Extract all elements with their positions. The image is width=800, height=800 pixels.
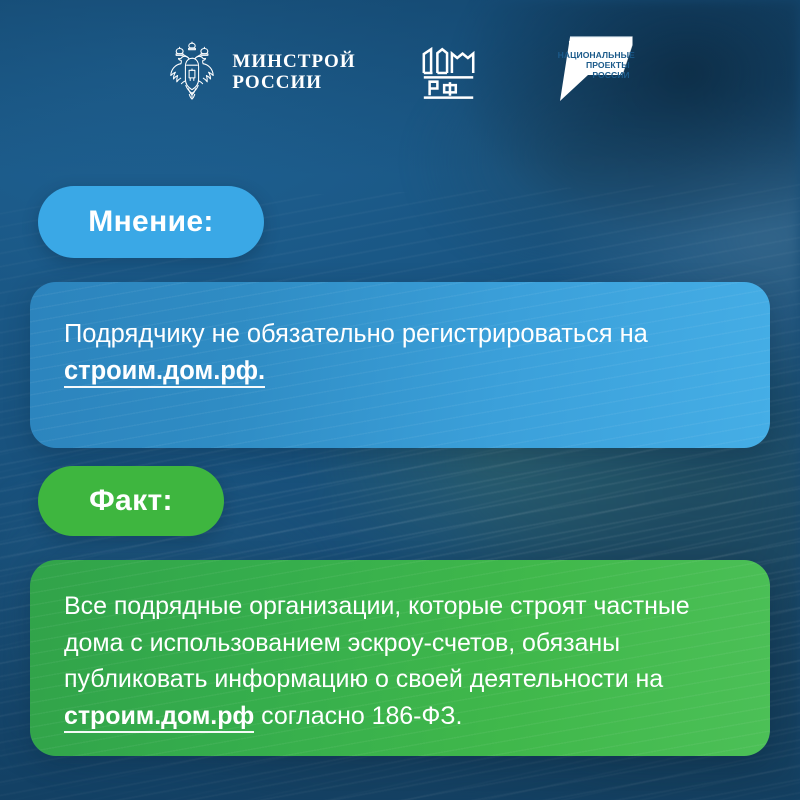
fact-text-before: Все подрядные организации, которые строя… — [64, 592, 690, 693]
national-projects-wordmark: НАЦИОНАЛЬНЫЕ ПРОЕКТЫ РОССИИ — [558, 51, 630, 80]
fact-highlight-link[interactable]: строим.дом.рф — [64, 702, 254, 733]
minstroy-line-1: МИНСТРОЙ — [232, 51, 355, 72]
opinion-card: Подрядчику не обязательно регистрировать… — [30, 282, 770, 448]
fact-badge-label: Факт: — [89, 484, 173, 518]
npr-line-3: РОССИИ — [558, 71, 630, 81]
opinion-badge: Мнение: — [38, 186, 264, 258]
opinion-badge-label: Мнение: — [88, 205, 214, 239]
minstroy-wordmark: МИНСТРОЙ РОССИИ — [232, 51, 355, 94]
minstroy-logo: МИНСТРОЙ РОССИИ — [166, 41, 355, 103]
fact-card-text: Все подрядные организации, которые строя… — [30, 560, 770, 734]
minstroy-line-2: РОССИИ — [232, 72, 355, 93]
infographic-poster: МИНСТРОЙ РОССИИ — [0, 0, 800, 800]
russian-coat-of-arms-icon — [166, 41, 218, 103]
opinion-highlight-link[interactable]: строим.дом.рф. — [64, 357, 265, 388]
opinion-text-before: Подрядчику не обязательно регистрировать… — [64, 320, 648, 348]
fact-text-after: согласно 186-ФЗ. — [254, 702, 462, 730]
opinion-card-text: Подрядчику не обязательно регистрировать… — [30, 282, 770, 391]
logo-header: МИНСТРОЙ РОССИИ — [0, 34, 800, 110]
national-projects-kicker: ИНФРАСТРУКТУРА — [569, 41, 628, 47]
fact-card: Все подрядные организации, которые строя… — [30, 560, 770, 756]
fact-badge: Факт: — [38, 466, 224, 536]
national-projects-logo: ИНФРАСТРУКТУРА НАЦИОНАЛЬНЫЕ ПРОЕКТЫ РОСС… — [542, 35, 634, 109]
domrf-logo-icon — [418, 41, 480, 103]
